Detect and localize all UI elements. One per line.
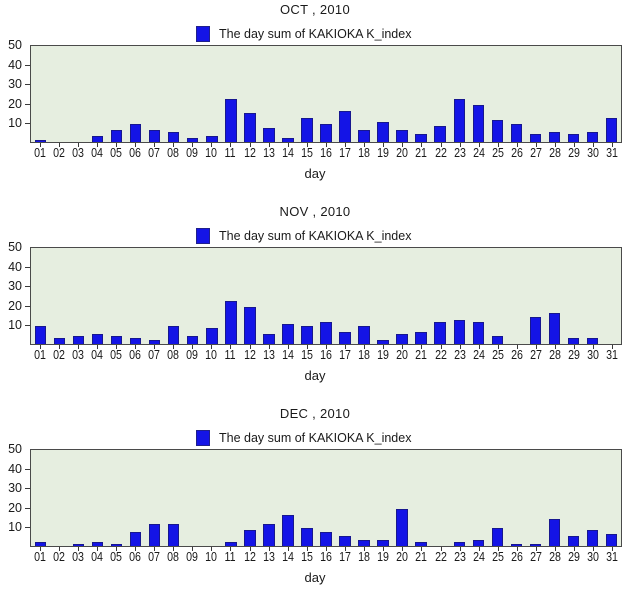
bar — [111, 130, 122, 142]
bar — [339, 111, 350, 142]
bar — [396, 509, 407, 546]
x-axis-title: day — [0, 570, 630, 585]
bar-cell — [88, 46, 107, 142]
bar-cell — [240, 248, 259, 344]
bar-cell — [412, 46, 431, 142]
x-tick-label: 04 — [91, 348, 103, 361]
bar-cell — [31, 248, 50, 344]
bar-cell — [297, 450, 316, 546]
x-tick-label: 19 — [377, 550, 389, 563]
x-tick-label: 16 — [320, 348, 332, 361]
x-tick: 04 — [87, 345, 106, 363]
chart-panel-oct: OCT , 2010 The day sum of KAKIOKA K_inde… — [0, 0, 630, 202]
bar — [473, 105, 484, 142]
bar-cell — [507, 46, 526, 142]
x-tick: 28 — [546, 345, 565, 363]
x-tick: 15 — [297, 345, 316, 363]
x-tick-label: 29 — [568, 550, 580, 563]
bar-cell — [259, 248, 278, 344]
bar — [358, 326, 369, 344]
bar-cell — [69, 248, 88, 344]
x-tick: 17 — [336, 143, 355, 161]
bar-cell — [183, 450, 202, 546]
bar — [301, 326, 312, 344]
bar — [92, 542, 103, 546]
bar — [130, 338, 141, 344]
x-tick: 21 — [412, 345, 431, 363]
x-tick-label: 28 — [549, 550, 561, 563]
bar — [244, 530, 255, 546]
x-tick-label: 06 — [129, 146, 141, 159]
bar — [339, 332, 350, 344]
x-tick-label: 27 — [530, 348, 542, 361]
x-tick-label: 11 — [225, 550, 236, 563]
plot-area-nov — [30, 247, 622, 345]
x-tick-label: 21 — [415, 550, 427, 563]
bar — [130, 532, 141, 546]
bar — [35, 140, 46, 142]
x-tick: 09 — [183, 547, 202, 565]
bar — [396, 334, 407, 344]
bar-cell — [107, 248, 126, 344]
x-tick: 27 — [526, 345, 545, 363]
bar-cell — [69, 450, 88, 546]
bar-cell — [278, 450, 297, 546]
x-tick: 12 — [240, 345, 259, 363]
bar-cell — [316, 46, 335, 142]
y-tick-label: 30 — [8, 78, 22, 91]
bar — [606, 534, 617, 546]
bar-cell — [221, 450, 240, 546]
x-tick-label: 15 — [301, 550, 313, 563]
bar — [568, 134, 579, 142]
bar — [377, 540, 388, 546]
x-tick-label: 25 — [492, 550, 504, 563]
bar-cell — [107, 450, 126, 546]
x-axis-oct: 0102030405060708091011121314151617181920… — [30, 143, 622, 161]
bar-cell — [450, 450, 469, 546]
x-tick: 19 — [374, 143, 393, 161]
x-tick-label: 22 — [435, 348, 447, 361]
bar-cell — [355, 450, 374, 546]
x-tick: 13 — [259, 547, 278, 565]
x-tick-label: 11 — [225, 146, 236, 159]
x-tick-label: 20 — [396, 146, 408, 159]
x-tick: 21 — [412, 547, 431, 565]
bar-cell — [374, 248, 393, 344]
bar — [282, 324, 293, 344]
bar — [473, 322, 484, 344]
x-tick: 30 — [584, 547, 603, 565]
x-tick-label: 13 — [263, 348, 275, 361]
bar-cell — [583, 248, 602, 344]
x-tick-label: 24 — [473, 348, 485, 361]
bar — [549, 313, 560, 344]
x-tick: 01 — [30, 143, 49, 161]
bar — [149, 340, 160, 344]
bar-cell — [336, 450, 355, 546]
bar — [454, 320, 465, 344]
bar — [92, 136, 103, 142]
x-tick-label: 31 — [606, 348, 618, 361]
y-tick-label: 10 — [8, 319, 22, 332]
bar — [606, 118, 617, 142]
x-tick-label: 29 — [568, 146, 580, 159]
bar-cell — [164, 46, 183, 142]
bar-series-dec — [31, 450, 621, 546]
x-tick: 28 — [546, 547, 565, 565]
bar — [35, 542, 46, 546]
plot-wrap-nov: 5040302010 01020304050607080910111213141… — [0, 202, 630, 404]
x-tick: 23 — [450, 547, 469, 565]
bar-cell — [450, 46, 469, 142]
x-axis-title: day — [0, 368, 630, 383]
x-tick: 30 — [584, 345, 603, 363]
bar — [92, 334, 103, 344]
bar — [263, 128, 274, 142]
x-tick: 20 — [393, 143, 412, 161]
bar-cell — [393, 450, 412, 546]
x-tick: 16 — [316, 143, 335, 161]
bar-cell — [126, 46, 145, 142]
bar-series-oct — [31, 46, 621, 142]
x-tick: 02 — [49, 143, 68, 161]
bar — [377, 122, 388, 142]
bar-cell — [488, 450, 507, 546]
x-tick-label: 25 — [492, 146, 504, 159]
bar — [530, 544, 541, 546]
x-tick-label: 12 — [244, 146, 256, 159]
bar — [130, 124, 141, 142]
x-tick-label: 18 — [358, 550, 370, 563]
x-tick-label: 14 — [282, 550, 294, 563]
bar-cell — [88, 248, 107, 344]
x-tick: 29 — [565, 345, 584, 363]
x-tick: 06 — [125, 547, 144, 565]
x-tick-label: 26 — [511, 348, 523, 361]
x-tick-label: 20 — [396, 550, 408, 563]
x-tick-label: 21 — [415, 348, 427, 361]
x-tick: 01 — [30, 547, 49, 565]
bar-cell — [469, 248, 488, 344]
x-tick-label: 28 — [549, 146, 561, 159]
x-tick-label: 23 — [454, 348, 466, 361]
bar-cell — [316, 248, 335, 344]
x-tick-label: 05 — [110, 146, 122, 159]
x-tick-label: 17 — [339, 348, 351, 361]
bar-cell — [164, 450, 183, 546]
x-tick-label: 12 — [244, 550, 256, 563]
y-axis-oct: 5040302010 — [0, 45, 30, 143]
bar — [434, 126, 445, 142]
bar-cell — [412, 450, 431, 546]
y-tick-label: 40 — [8, 58, 22, 71]
bar — [511, 544, 522, 546]
y-tick-label: 10 — [8, 521, 22, 534]
bar — [149, 524, 160, 546]
bar — [549, 132, 560, 142]
bar-cell — [50, 450, 69, 546]
bar-cell — [602, 450, 621, 546]
bar-cell — [393, 248, 412, 344]
x-tick-label: 13 — [263, 550, 275, 563]
bar — [587, 132, 598, 142]
bar — [111, 336, 122, 344]
bar-cell — [164, 248, 183, 344]
bar — [415, 332, 426, 344]
x-tick: 29 — [565, 143, 584, 161]
bar — [149, 130, 160, 142]
bar — [377, 340, 388, 344]
x-tick: 04 — [87, 143, 106, 161]
bar-cell — [374, 46, 393, 142]
x-tick: 09 — [183, 345, 202, 363]
bar — [244, 307, 255, 344]
x-tick-label: 23 — [454, 550, 466, 563]
x-tick-label: 02 — [53, 348, 65, 361]
bar-cell — [564, 450, 583, 546]
x-tick: 22 — [431, 345, 450, 363]
bar-cell — [602, 46, 621, 142]
x-tick: 18 — [355, 345, 374, 363]
x-tick-label: 26 — [511, 146, 523, 159]
x-tick: 12 — [240, 143, 259, 161]
bar-cell — [240, 450, 259, 546]
bar-cell — [202, 450, 221, 546]
x-tick-label: 17 — [339, 146, 351, 159]
x-tick-label: 03 — [72, 348, 84, 361]
x-tick: 26 — [507, 345, 526, 363]
bar-cell — [202, 248, 221, 344]
x-tick-label: 04 — [91, 550, 103, 563]
x-tick-label: 08 — [167, 348, 179, 361]
x-tick: 25 — [488, 143, 507, 161]
x-tick: 19 — [374, 345, 393, 363]
bar-cell — [259, 450, 278, 546]
bar — [225, 301, 236, 344]
bar-cell — [297, 46, 316, 142]
x-tick: 14 — [278, 547, 297, 565]
x-tick-label: 25 — [492, 348, 504, 361]
bar-cell — [545, 450, 564, 546]
x-tick-label: 07 — [148, 348, 160, 361]
x-tick-label: 02 — [53, 146, 65, 159]
x-tick-label: 08 — [167, 146, 179, 159]
x-tick: 13 — [259, 345, 278, 363]
x-tick: 05 — [106, 345, 125, 363]
x-tick: 09 — [183, 143, 202, 161]
bar-cell — [202, 46, 221, 142]
bar — [35, 326, 46, 344]
x-tick-label: 03 — [72, 550, 84, 563]
x-tick: 22 — [431, 547, 450, 565]
x-tick: 27 — [526, 547, 545, 565]
x-tick: 08 — [164, 143, 183, 161]
bar — [511, 124, 522, 142]
x-tick: 10 — [202, 547, 221, 565]
bar-cell — [221, 46, 240, 142]
bar — [434, 322, 445, 344]
x-tick: 24 — [469, 143, 488, 161]
bar-cell — [183, 46, 202, 142]
x-tick-label: 08 — [167, 550, 179, 563]
x-tick-label: 18 — [358, 348, 370, 361]
bar — [415, 542, 426, 546]
x-tick: 10 — [202, 345, 221, 363]
bar — [282, 515, 293, 546]
x-tick-label: 02 — [53, 550, 65, 563]
x-tick: 14 — [278, 345, 297, 363]
bar-cell — [336, 248, 355, 344]
x-tick-label: 21 — [415, 146, 427, 159]
x-tick-label: 19 — [377, 348, 389, 361]
x-tick: 20 — [393, 345, 412, 363]
bar-cell — [564, 248, 583, 344]
x-tick: 07 — [145, 345, 164, 363]
x-tick-label: 24 — [473, 550, 485, 563]
x-axis-dec: 0102030405060708091011121314151617181920… — [30, 547, 622, 565]
x-tick: 24 — [469, 547, 488, 565]
bar — [282, 138, 293, 142]
x-tick: 26 — [507, 547, 526, 565]
bar — [587, 530, 598, 546]
bar-cell — [488, 46, 507, 142]
x-tick: 25 — [488, 345, 507, 363]
bar — [73, 544, 84, 546]
bar-cell — [393, 46, 412, 142]
x-tick-label: 05 — [110, 348, 122, 361]
x-tick-label: 06 — [129, 348, 141, 361]
x-tick-label: 06 — [129, 550, 141, 563]
bar — [454, 542, 465, 546]
bar-cell — [469, 46, 488, 142]
bar-cell — [507, 248, 526, 344]
bar-cell — [145, 46, 164, 142]
x-tick: 17 — [336, 547, 355, 565]
x-tick: 08 — [164, 345, 183, 363]
bar-cell — [526, 46, 545, 142]
bar — [568, 536, 579, 546]
bar — [530, 134, 541, 142]
x-tick: 19 — [374, 547, 393, 565]
x-tick-label: 10 — [205, 146, 217, 159]
bar-cell — [240, 46, 259, 142]
x-tick-label: 24 — [473, 146, 485, 159]
bar-cell — [50, 248, 69, 344]
bar-cell — [278, 46, 297, 142]
bar-cell — [583, 450, 602, 546]
x-tick-label: 31 — [606, 146, 618, 159]
x-tick: 11 — [221, 345, 240, 363]
x-tick: 20 — [393, 547, 412, 565]
x-tick-label: 11 — [225, 348, 236, 361]
x-tick: 06 — [125, 143, 144, 161]
bar-cell — [278, 248, 297, 344]
bar-cell — [297, 248, 316, 344]
bar — [492, 336, 503, 344]
bar — [73, 336, 84, 344]
bar-cell — [602, 248, 621, 344]
x-tick: 08 — [164, 547, 183, 565]
x-tick-label: 05 — [110, 550, 122, 563]
x-tick-label: 01 — [34, 146, 46, 159]
bar-cell — [145, 248, 164, 344]
x-tick: 31 — [603, 345, 622, 363]
x-tick: 31 — [603, 547, 622, 565]
bar-cell — [450, 248, 469, 344]
x-tick-label: 16 — [320, 550, 332, 563]
x-tick-label: 18 — [358, 146, 370, 159]
bar — [187, 336, 198, 344]
x-tick-label: 10 — [205, 348, 217, 361]
chart-page: OCT , 2010 The day sum of KAKIOKA K_inde… — [0, 0, 630, 607]
bar — [492, 528, 503, 546]
bar-cell — [412, 248, 431, 344]
chart-panel-nov: NOV , 2010 The day sum of KAKIOKA K_inde… — [0, 202, 630, 404]
bar-cell — [374, 450, 393, 546]
bar — [339, 536, 350, 546]
x-tick-label: 07 — [148, 550, 160, 563]
bar — [187, 138, 198, 142]
x-tick-label: 12 — [244, 348, 256, 361]
bar — [358, 130, 369, 142]
x-tick: 22 — [431, 143, 450, 161]
bar-cell — [469, 450, 488, 546]
bar — [168, 524, 179, 546]
y-tick-label: 20 — [8, 502, 22, 515]
y-tick-label: 40 — [8, 260, 22, 273]
x-tick: 17 — [336, 345, 355, 363]
x-tick-label: 10 — [205, 550, 217, 563]
x-tick-label: 03 — [72, 146, 84, 159]
x-tick-label: 27 — [530, 550, 542, 563]
bar-cell — [107, 46, 126, 142]
x-tick-label: 14 — [282, 146, 294, 159]
x-tick-label: 28 — [549, 348, 561, 361]
x-tick-label: 13 — [263, 146, 275, 159]
bar — [358, 540, 369, 546]
bar-cell — [259, 46, 278, 142]
x-tick-label: 27 — [530, 146, 542, 159]
x-tick-label: 23 — [454, 146, 466, 159]
x-tick: 05 — [106, 547, 125, 565]
x-tick-label: 14 — [282, 348, 294, 361]
x-tick-label: 29 — [568, 348, 580, 361]
bar-cell — [336, 46, 355, 142]
bar-series-nov — [31, 248, 621, 344]
x-tick-label: 19 — [377, 146, 389, 159]
plot-wrap-oct: 5040302010 01020304050607080910111213141… — [0, 0, 630, 202]
bar-cell — [88, 450, 107, 546]
x-tick: 26 — [507, 143, 526, 161]
bar — [263, 524, 274, 546]
x-tick: 15 — [297, 547, 316, 565]
x-tick: 18 — [355, 143, 374, 161]
bar — [206, 136, 217, 142]
x-tick: 10 — [202, 143, 221, 161]
x-tick: 25 — [488, 547, 507, 565]
bar — [168, 132, 179, 142]
x-tick: 07 — [145, 547, 164, 565]
bar — [568, 338, 579, 344]
y-axis-nov: 5040302010 — [0, 247, 30, 345]
bar — [225, 99, 236, 142]
x-tick-label: 01 — [34, 550, 46, 563]
x-tick-label: 30 — [587, 348, 599, 361]
bar — [54, 338, 65, 344]
x-tick: 23 — [450, 345, 469, 363]
bar-cell — [126, 450, 145, 546]
